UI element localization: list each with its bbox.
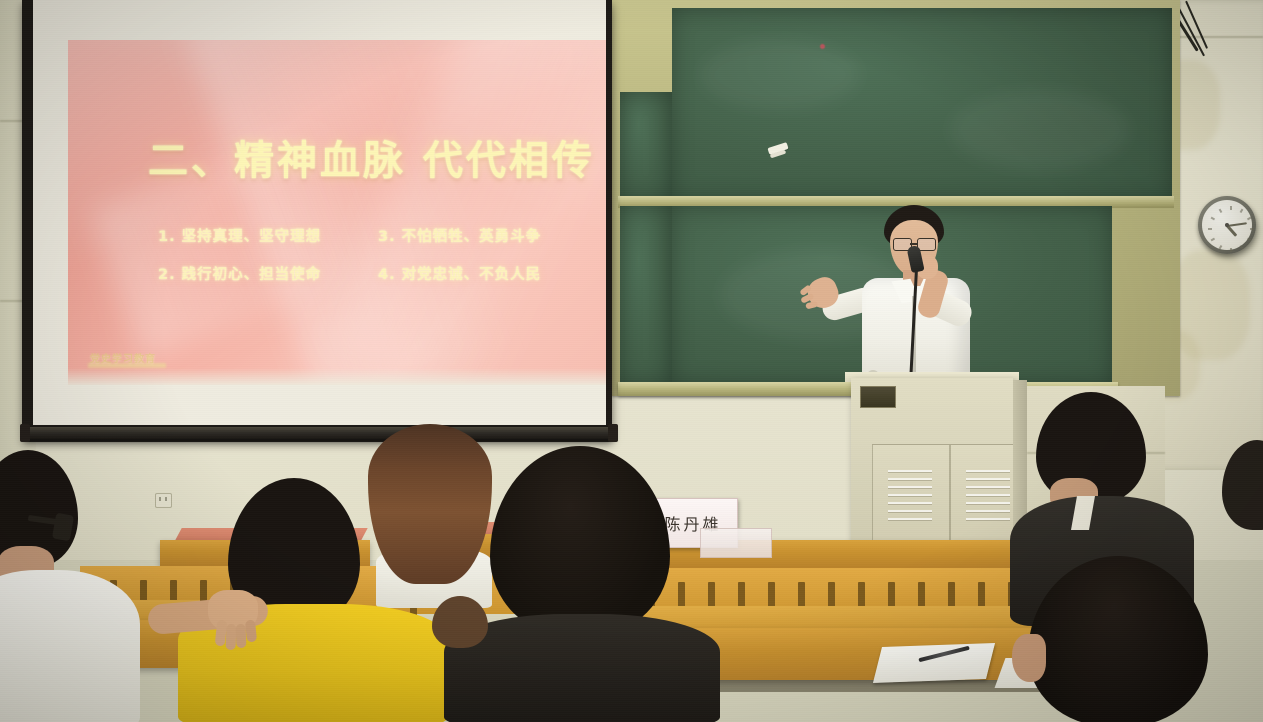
clock-tick xyxy=(1250,228,1254,230)
slide-bullet-list: 1. 坚持真理、坚守理想 3. 不怕牺牲、英勇斗争 2. 践行初心、担当使命 4… xyxy=(158,225,578,301)
screen-weight-bar xyxy=(24,427,615,439)
student-partial-center xyxy=(432,596,492,656)
vent-slat xyxy=(966,502,1010,504)
clock-tick xyxy=(1230,206,1232,210)
finger xyxy=(805,301,818,310)
clock-tick xyxy=(1247,217,1251,221)
wall-clock xyxy=(1198,196,1260,258)
clock-tick xyxy=(1211,217,1215,221)
slide-title: 二、精神血脉 代代相传 xyxy=(148,128,588,186)
slide-bullet-4: 4. 对党忠诚、不负人民 xyxy=(378,263,578,301)
red-dot-mark xyxy=(820,44,825,49)
student-center-dark xyxy=(470,446,690,722)
clock-tick xyxy=(1208,228,1212,230)
slide-bullet-1: 1. 坚持真理、坚守理想 xyxy=(158,225,358,263)
student-hair xyxy=(432,596,488,648)
classroom-photo: 二、精神血脉 代代相传 1. 坚持真理、坚守理想 3. 不怕牺牲、英勇斗争 2.… xyxy=(0,0,1263,722)
presentation-slide: 二、精神血脉 代代相传 1. 坚持真理、坚守理想 3. 不怕牺牲、英勇斗争 2.… xyxy=(68,40,606,385)
vent-slat xyxy=(966,510,1010,512)
student-white-shirt-glasses xyxy=(0,450,120,722)
vent-slat xyxy=(888,470,932,472)
blackboard-smudge xyxy=(700,40,860,110)
vent-slat xyxy=(966,478,1010,480)
vent-slat xyxy=(966,518,1010,520)
clock-tick xyxy=(1230,248,1232,252)
screen-bar-cap-left xyxy=(20,424,30,442)
vent-slat xyxy=(888,486,932,488)
vent-slat xyxy=(966,486,1010,488)
vent-slat xyxy=(888,502,932,504)
student-yellow-shirt xyxy=(160,478,450,722)
glasses-bridge xyxy=(910,243,917,245)
student-hair xyxy=(490,446,670,636)
vent-slat xyxy=(888,478,932,480)
clock-tick xyxy=(1219,209,1223,213)
podium-door-left[interactable] xyxy=(872,444,950,542)
slide-bullet-3: 3. 不怕牺牲、英勇斗争 xyxy=(378,225,578,263)
podium-label-plate xyxy=(860,386,896,408)
screen-bar-cap-right xyxy=(608,424,618,442)
clock-tick xyxy=(1219,245,1223,249)
clock-tick xyxy=(1240,209,1244,213)
student-far-right-partial xyxy=(1222,440,1263,570)
student-hair xyxy=(1222,440,1263,530)
projection-screen-surface: 二、精神血脉 代代相传 1. 坚持真理、坚守理想 3. 不怕牺牲、英勇斗争 2.… xyxy=(33,0,606,425)
sheet-of-paper xyxy=(873,643,995,683)
slide-bullet-2: 2. 践行初心、担当使命 xyxy=(158,263,358,301)
blackboard-panel-lower-left xyxy=(620,206,672,384)
vent-slat xyxy=(966,494,1010,496)
vent-slat xyxy=(888,494,932,496)
blackboard-smudge xyxy=(950,90,1130,170)
student-hair xyxy=(1028,556,1208,722)
vent-slat xyxy=(888,518,932,520)
name-card-secondary xyxy=(700,528,772,558)
blackboard-panel-upper-left xyxy=(620,92,672,200)
clock-tick xyxy=(1211,238,1215,242)
student-ear xyxy=(1012,634,1046,682)
vent-slat xyxy=(966,470,1010,472)
clock-hub xyxy=(1225,223,1229,227)
vent-slat xyxy=(888,510,932,512)
slide-bottom-fade xyxy=(68,368,606,385)
presenter xyxy=(800,200,1010,400)
student-body xyxy=(0,570,140,722)
student-right-lower xyxy=(1008,556,1218,722)
